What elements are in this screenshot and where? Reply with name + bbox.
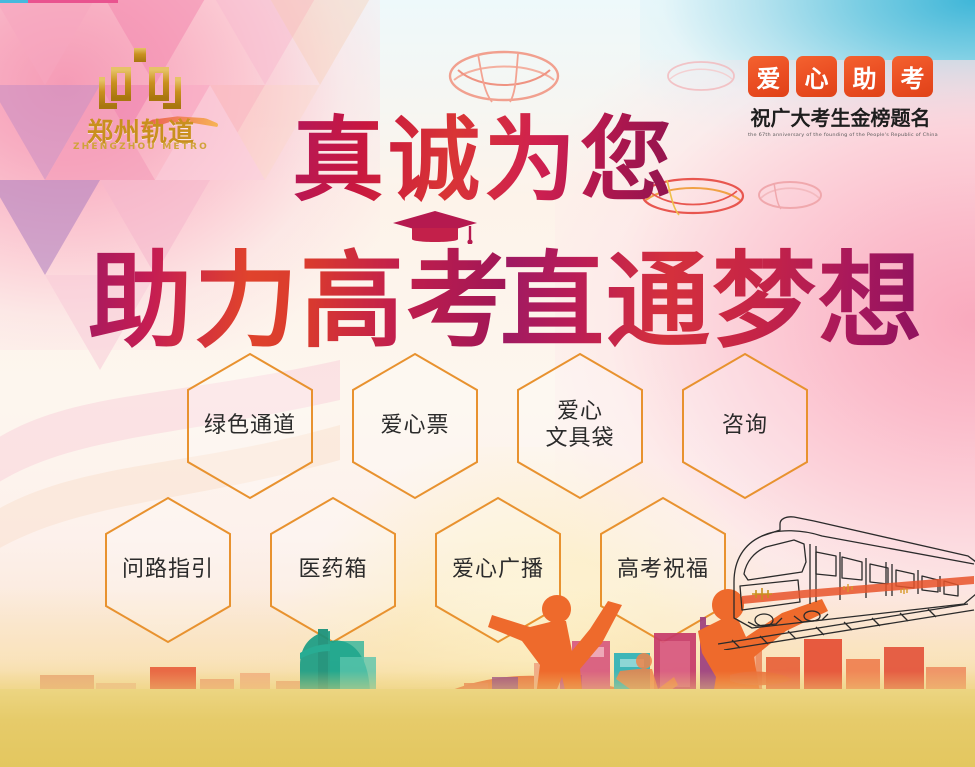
hot-air-balloon-icon xyxy=(666,58,736,94)
service-label-line-1: 爱心 xyxy=(557,399,603,424)
ground-plane xyxy=(0,689,975,767)
metro-train-line-art xyxy=(718,500,975,650)
service-label-line-2: 文具袋 xyxy=(545,426,614,451)
service-hex-love-ticket[interactable]: 爱心票 xyxy=(351,352,479,500)
badge-character-row: 爱 心 助 考 xyxy=(748,56,933,97)
hot-air-balloon-icon xyxy=(757,178,823,212)
headline-line-2-right: 直通梦想 xyxy=(500,216,924,367)
badge-char-4: 考 xyxy=(892,56,933,97)
badge-char-1: 爱 xyxy=(748,56,789,97)
service-label: 爱心 文具袋 xyxy=(545,399,614,453)
badge-subtitle: 祝广大考生金榜题名 xyxy=(748,102,933,131)
edge-stripe-pink xyxy=(28,0,118,3)
service-label: 绿色通道 xyxy=(204,413,296,440)
graduation-cap-icon xyxy=(392,210,478,244)
service-hex-green-channel[interactable]: 绿色通道 xyxy=(186,352,314,500)
care-exam-badge: 爱 心 助 考 祝广大考生金榜题名 the 67th anniversary o… xyxy=(748,56,933,138)
badge-char-2: 心 xyxy=(796,56,837,97)
zhengzhou-metro-logo-icon xyxy=(94,46,186,118)
edge-stripe-left xyxy=(0,0,28,3)
service-label: 医药箱 xyxy=(298,557,367,584)
service-hex-stationery-bag[interactable]: 爱心 文具袋 xyxy=(516,352,644,500)
service-label: 爱心票 xyxy=(380,413,449,440)
poster-canvas: 郑州轨道 ZHENGZHOU METRO 爱 心 助 考 祝广大考生金榜题名 t… xyxy=(0,0,975,767)
service-label: 问路指引 xyxy=(122,557,214,584)
service-label: 爱心广播 xyxy=(452,557,544,584)
service-label: 高考祝福 xyxy=(617,557,709,584)
service-hex-consultation[interactable]: 咨询 xyxy=(681,352,809,500)
logo-english-name: ZHENGZHOU METRO xyxy=(66,142,216,152)
headline-line-1: 真诚为您 xyxy=(292,86,676,219)
badge-english-microtext: the 67th anniversary of the founding of … xyxy=(748,132,933,137)
badge-char-3: 助 xyxy=(844,56,885,97)
service-label: 咨询 xyxy=(722,413,768,440)
brand-logo: 郑州轨道 ZHENGZHOU METRO xyxy=(66,46,216,151)
